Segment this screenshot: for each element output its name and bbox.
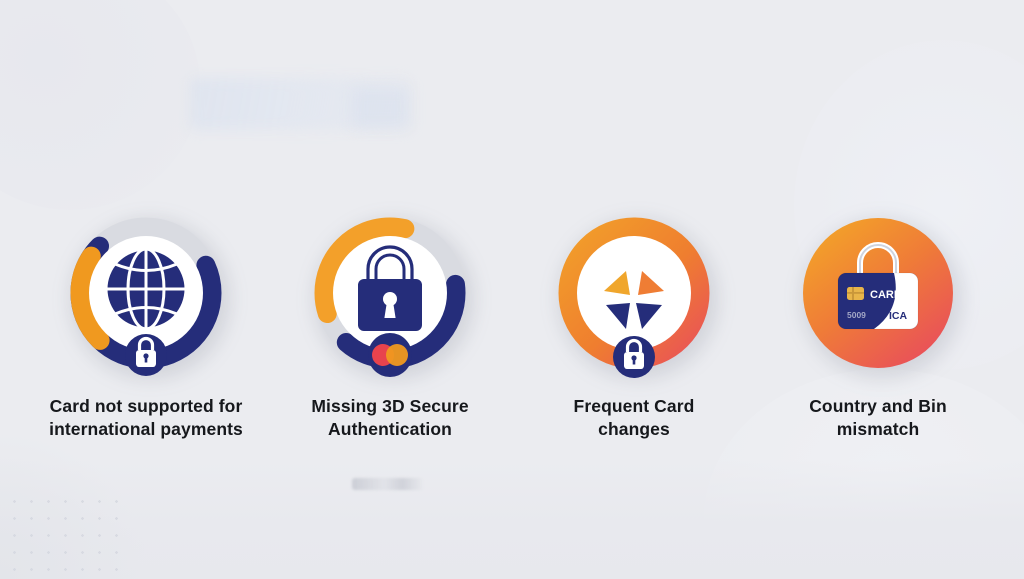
bg-ghost-watermark-2 (352, 88, 410, 128)
svg-text:CARD: CARD (870, 289, 902, 301)
four-wedges-icon (546, 205, 722, 381)
reason-caption: Country and Bin mismatch (781, 395, 976, 441)
credit-card-graphic: CARD 5009 ICA (838, 273, 918, 329)
svg-text:5009: 5009 (847, 310, 866, 320)
lock-badge-icon (125, 334, 167, 376)
reason-card-list: Card not supported for international pay… (0, 205, 1024, 441)
progress-ring (302, 205, 478, 381)
mastercard-badge-icon (368, 333, 412, 377)
reason-caption: Card not supported for international pay… (49, 395, 244, 441)
reason-card-card-not-supported[interactable]: Card not supported for international pay… (42, 205, 250, 441)
svg-text:ICA: ICA (889, 310, 908, 322)
reason-card-missing-3d-secure[interactable]: Missing 3D Secure Authentication (286, 205, 494, 441)
lock-badge-icon (613, 336, 655, 378)
bg-smudge (352, 478, 424, 490)
globe-lock-icon (58, 205, 234, 381)
padlock-icon (302, 205, 478, 381)
bg-bottom-sheet (0, 459, 1024, 579)
bg-blob-top-left (0, 0, 200, 210)
reason-card-country-bin-mismatch[interactable]: CARD 5009 ICA Country and Bin mismatch (774, 205, 982, 441)
reason-caption: Frequent Card changes (537, 395, 732, 441)
reason-caption: Missing 3D Secure Authentication (293, 395, 488, 441)
bg-dot-grid (6, 493, 126, 573)
gradient-disc: CARD 5009 ICA (790, 205, 966, 381)
progress-ring (546, 205, 722, 381)
card-padlock-icon: CARD 5009 ICA (790, 205, 966, 381)
reason-card-frequent-card-changes[interactable]: Frequent Card changes (530, 205, 738, 441)
progress-ring (58, 205, 234, 381)
